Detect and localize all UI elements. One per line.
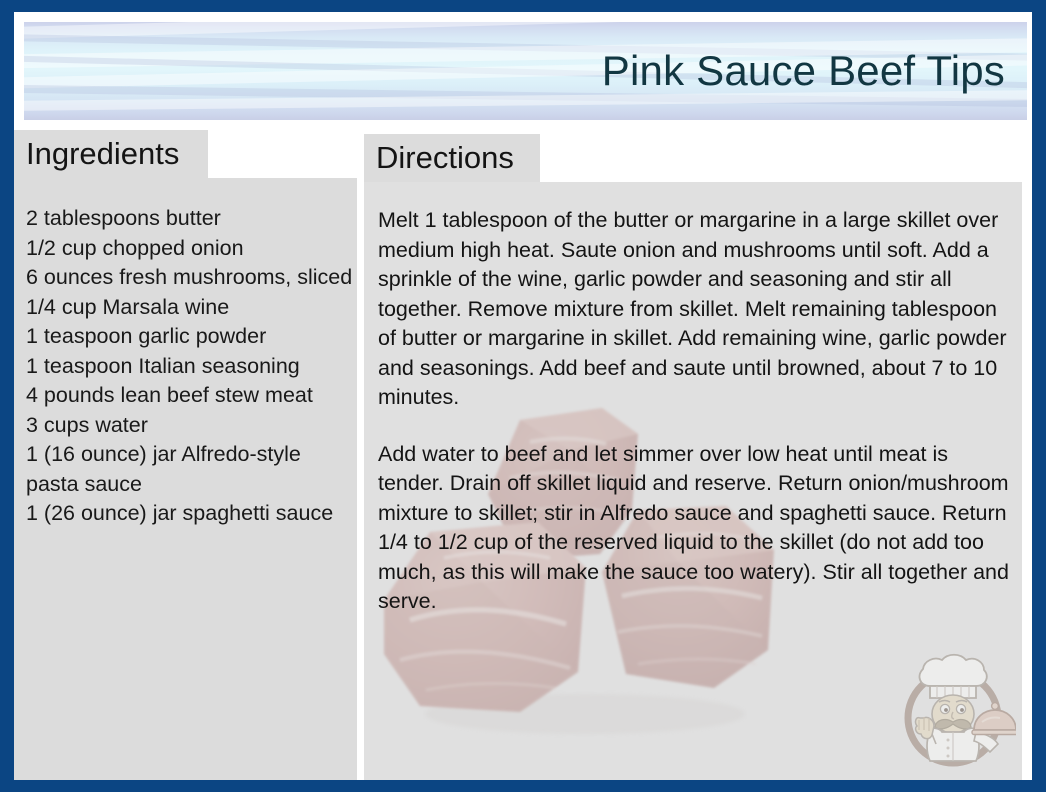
list-item: 1 teaspoon Italian seasoning bbox=[26, 352, 353, 382]
ingredients-panel: 2 tablespoons butter 1/2 cup chopped oni… bbox=[14, 178, 357, 780]
directions-header: Directions bbox=[364, 134, 540, 182]
list-item: 3 cups water bbox=[26, 411, 353, 441]
list-item: 1 (26 ounce) jar spaghetti sauce bbox=[26, 499, 353, 529]
ingredients-header: Ingredients bbox=[14, 130, 208, 178]
list-item: 1/4 cup Marsala wine bbox=[26, 293, 353, 323]
title-banner: Pink Sauce Beef Tips bbox=[24, 22, 1027, 120]
list-item: 6 ounces fresh mushrooms, sliced bbox=[26, 263, 353, 293]
ingredients-list: 2 tablespoons butter 1/2 cup chopped oni… bbox=[26, 204, 353, 529]
slide-page: Pink Sauce Beef Tips Ingredients 2 table… bbox=[14, 12, 1032, 780]
list-item: 1 teaspoon garlic powder bbox=[26, 322, 353, 352]
directions-body: Melt 1 tablespoon of the butter or marga… bbox=[378, 206, 1010, 617]
recipe-slide: Pink Sauce Beef Tips Ingredients 2 table… bbox=[0, 0, 1046, 792]
directions-paragraph: Melt 1 tablespoon of the butter or marga… bbox=[378, 206, 1010, 413]
list-item: 2 tablespoons butter bbox=[26, 204, 353, 234]
directions-panel: Melt 1 tablespoon of the butter or marga… bbox=[364, 182, 1022, 780]
list-item: 1 (16 ounce) jar Alfredo-style pasta sau… bbox=[26, 440, 353, 499]
directions-paragraph: Add water to beef and let simmer over lo… bbox=[378, 440, 1010, 617]
slide-title: Pink Sauce Beef Tips bbox=[602, 49, 1005, 93]
list-item: 1/2 cup chopped onion bbox=[26, 234, 353, 264]
list-item: 4 pounds lean beef stew meat bbox=[26, 381, 353, 411]
